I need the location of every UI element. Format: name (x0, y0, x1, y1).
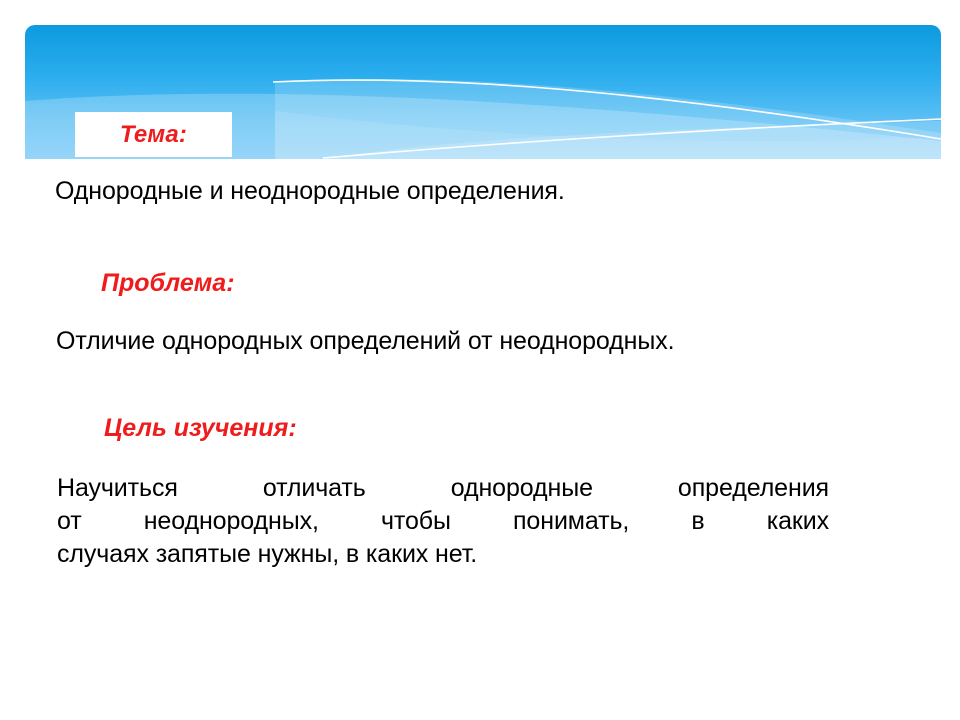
goal-heading: Цель изучения: (104, 414, 297, 443)
topic-title: Однородные и неоднородные определения. (55, 177, 565, 206)
goal-text-line: Научиться отличать однородные определени… (57, 472, 829, 505)
slide-canvas: Тема: Однородные и неоднородные определе… (0, 0, 960, 720)
goal-text-line: случаях запятые нужны, в каких нет. (57, 538, 829, 571)
goal-text: Научиться отличать однородные определени… (57, 472, 829, 571)
goal-text-line: от неоднородных, чтобы понимать, в каких (57, 505, 829, 538)
theme-label-box: Тема: (75, 112, 232, 157)
theme-label-text: Тема: (120, 123, 187, 147)
problem-text: Отличие однородных определений от неодно… (56, 327, 674, 356)
problem-heading: Проблема: (101, 269, 235, 298)
